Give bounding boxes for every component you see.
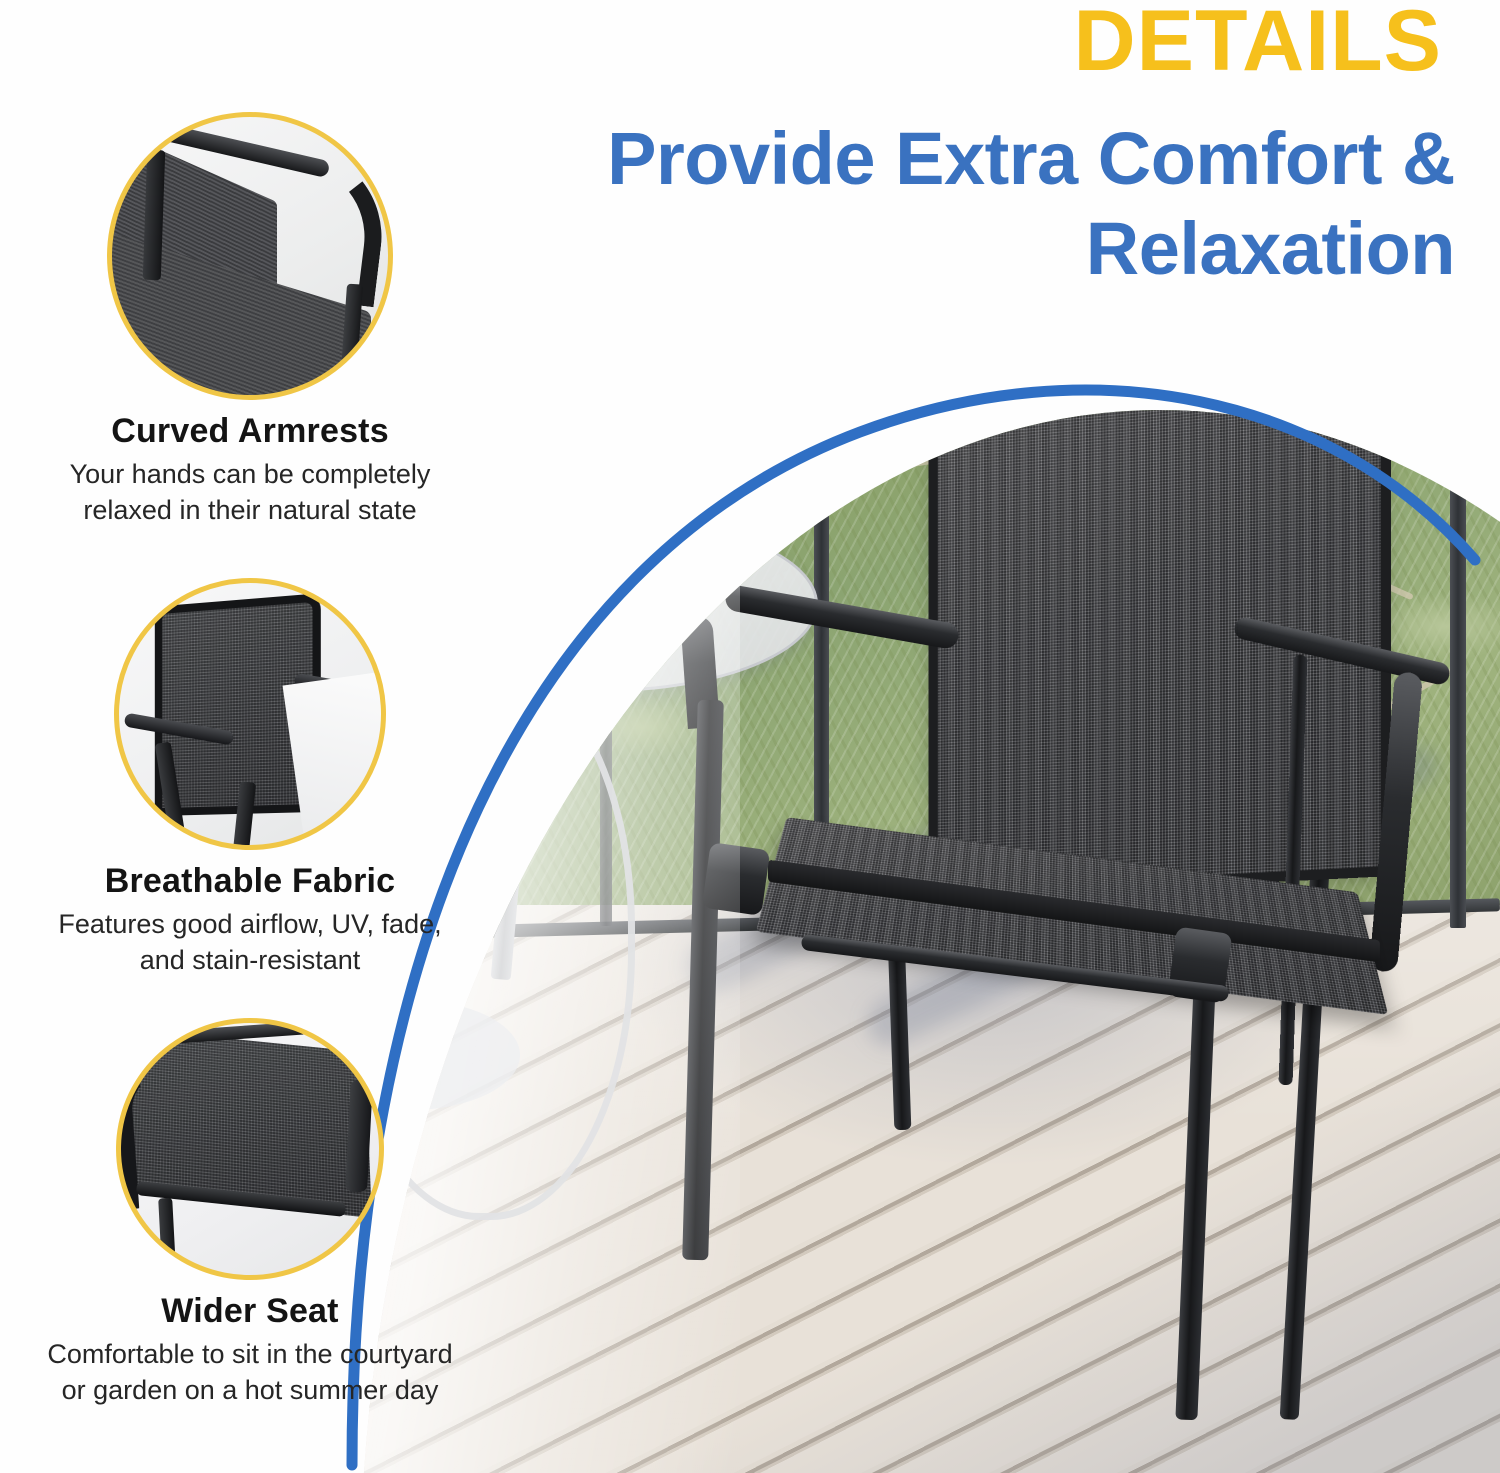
fabric-thumb-floor: [283, 672, 382, 846]
twig: [522, 624, 639, 662]
feature-desc-line-2: or garden on a hot summer day: [10, 1373, 490, 1409]
infographic-canvas: DETAILS Provide Extra Comfort & Relaxati…: [0, 0, 1500, 1473]
curved-armrest-photo: [111, 116, 389, 396]
chair-backrest-frame: [928, 329, 1391, 899]
feature-desc-line-1: Comfortable to sit in the courtyard: [10, 1337, 490, 1373]
feature-thumbnail-curved-armrests: [107, 112, 393, 400]
breathable-fabric-photo: [118, 582, 382, 846]
feature-description: Features good airflow, UV, fade, and sta…: [0, 907, 500, 978]
feature-description: Comfortable to sit in the courtyard or g…: [0, 1337, 500, 1408]
feature-item-wider-seat: Wider Seat Comfortable to sit in the cou…: [0, 1018, 500, 1408]
feature-thumbnail-wider-seat: [116, 1018, 384, 1280]
magazine-highlight: [557, 548, 574, 560]
feature-item-curved-armrests: Curved Armrests Your hands can be comple…: [0, 112, 500, 528]
open-magazine: [478, 527, 634, 612]
feature-desc-line-1: Features good airflow, UV, fade,: [10, 907, 490, 943]
feature-title: Breathable Fabric: [0, 862, 500, 901]
feature-title: Wider Seat: [0, 1292, 500, 1331]
chair-armrest-left: [724, 584, 961, 651]
armrest-thumb-curve: [278, 147, 389, 308]
railing-top-rail: [452, 388, 1500, 426]
feature-description: Your hands can be completely relaxed in …: [0, 457, 500, 528]
feature-desc-line-2: relaxed in their natural state: [10, 493, 490, 529]
twig: [642, 411, 777, 461]
feature-desc-line-2: and stain-resistant: [10, 943, 490, 979]
seat-thumb-leg: [158, 1198, 176, 1269]
chair-front-leg-right: [1175, 960, 1216, 1421]
chair-seat-bracket-left: [702, 842, 771, 916]
feature-desc-line-1: Your hands can be completely: [10, 457, 490, 493]
feature-thumbnail-breathable-fabric: [114, 578, 386, 850]
feature-item-breathable-fabric: Breathable Fabric Features good airflow,…: [0, 578, 500, 978]
feature-title: Curved Armrests: [0, 412, 500, 451]
chair-front-leg-left: [682, 700, 724, 1261]
wider-seat-photo: [120, 1022, 380, 1276]
feature-list: Curved Armrests Your hands can be comple…: [0, 0, 500, 1473]
